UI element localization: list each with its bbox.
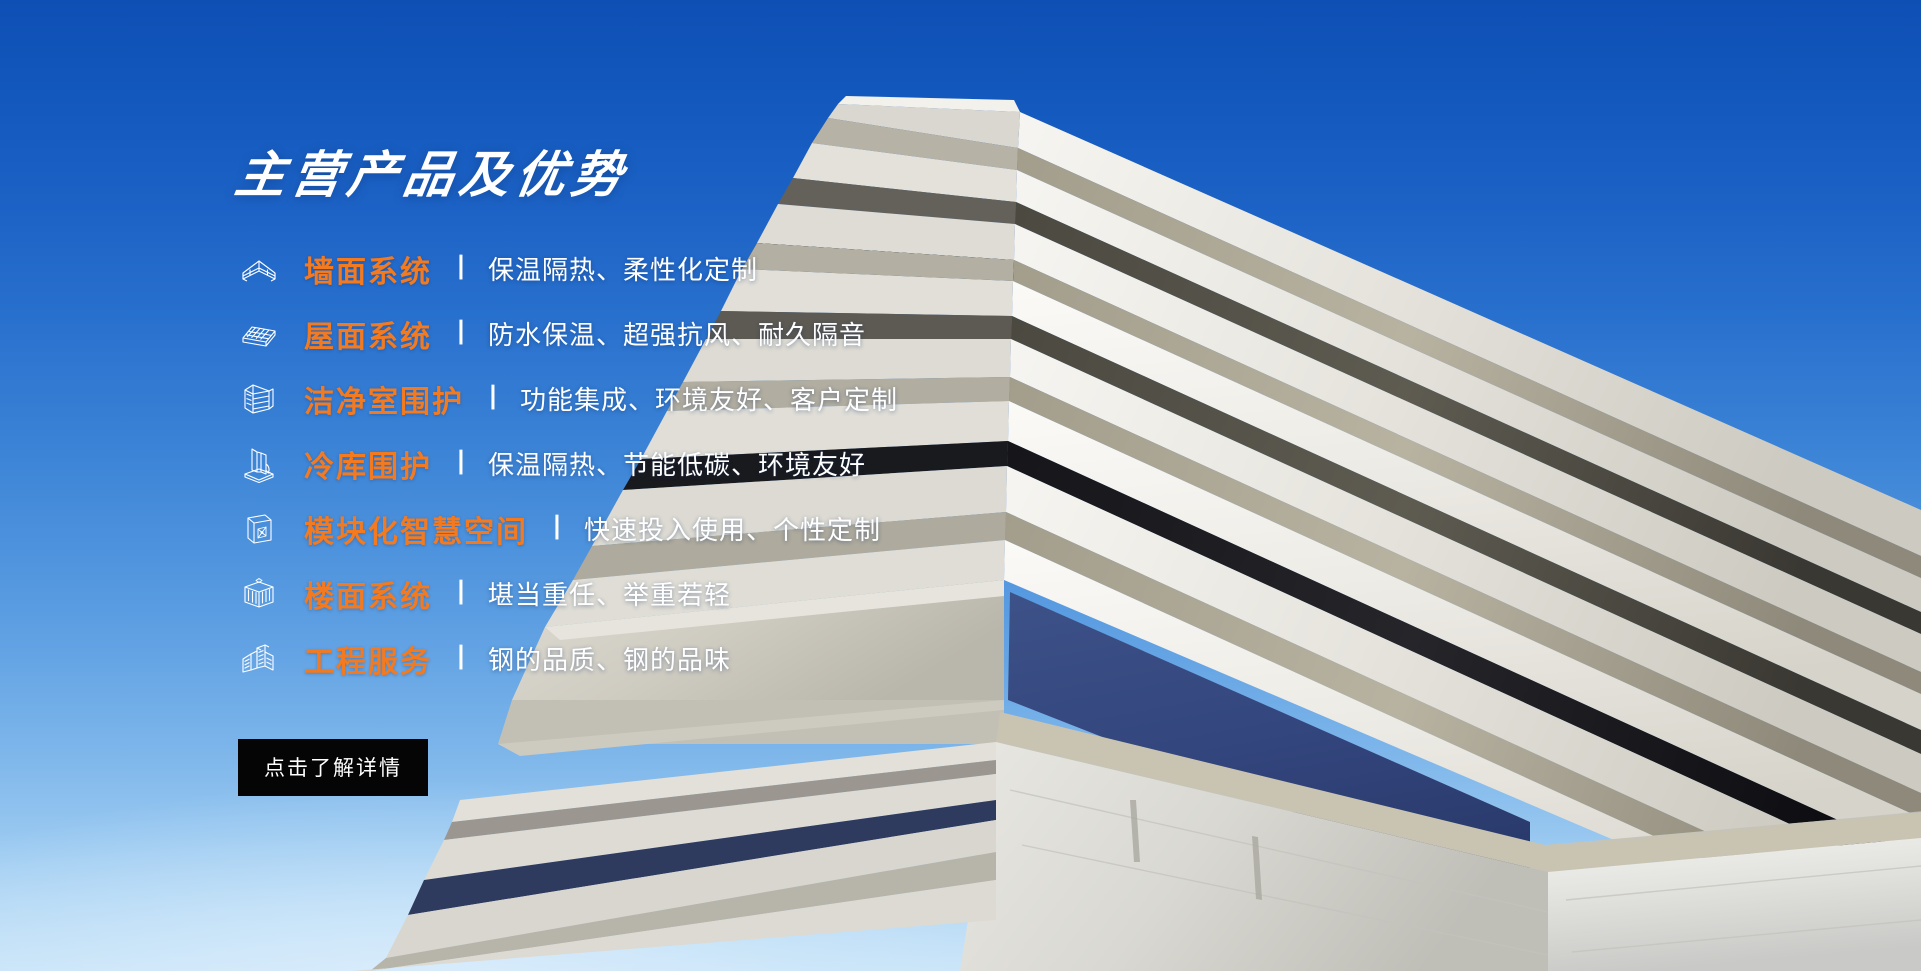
- product-name: 模块化智慧空间: [304, 507, 528, 551]
- product-desc: 防水保温、超强抗风、耐久隔音: [488, 315, 866, 352]
- product-list: 墙面系统 丨 保温隔热、柔性化定制 屋面系统 丨 防水保温、超强抗: [236, 236, 1096, 691]
- product-row-cleanroom[interactable]: 洁净室围护 丨 功能集成、环境友好、客户定制: [236, 366, 1096, 431]
- product-row-cold-storage[interactable]: 冷库围护 丨 保温隔热、节能低碳、环境友好: [236, 431, 1096, 496]
- learn-more-button[interactable]: 点击了解详情: [238, 739, 428, 796]
- modular-cube-icon: [236, 507, 282, 551]
- roof-panel-icon: [236, 312, 282, 356]
- separator: 丨: [448, 255, 474, 281]
- product-row-modular-space[interactable]: 模块化智慧空间 丨 快速投入使用、个性定制: [236, 496, 1096, 561]
- cleanroom-building-icon: [236, 377, 282, 421]
- product-name: 洁净室围护: [304, 377, 464, 421]
- page-title: 主营产品及优势: [232, 150, 1100, 200]
- product-name: 墙面系统: [304, 247, 432, 291]
- hero-banner: 主营产品及优势 墙面系统 丨 保温隔热、柔性化定制: [0, 0, 1921, 971]
- separator: 丨: [448, 450, 474, 476]
- separator: 丨: [448, 645, 474, 671]
- engineering-buildings-icon: [236, 637, 282, 681]
- product-desc: 钢的品质、钢的品味: [488, 640, 731, 677]
- product-name: 工程服务: [304, 637, 432, 681]
- separator: 丨: [480, 385, 506, 411]
- product-desc: 堪当重任、举重若轻: [488, 575, 731, 612]
- product-desc: 保温隔热、节能低碳、环境友好: [488, 445, 866, 482]
- product-desc: 快速投入使用、个性定制: [584, 510, 881, 547]
- separator: 丨: [544, 515, 570, 541]
- separator: 丨: [448, 580, 474, 606]
- separator: 丨: [448, 320, 474, 346]
- product-name: 冷库围护: [304, 442, 432, 486]
- product-desc: 保温隔热、柔性化定制: [488, 250, 758, 287]
- product-name: 屋面系统: [304, 312, 432, 356]
- floor-deck-icon: [236, 572, 282, 616]
- product-row-wall-system[interactable]: 墙面系统 丨 保温隔热、柔性化定制: [236, 236, 1096, 301]
- product-row-floor-system[interactable]: 楼面系统 丨 堪当重任、举重若轻: [236, 561, 1096, 626]
- product-row-engineering-service[interactable]: 工程服务 丨 钢的品质、钢的品味: [236, 626, 1096, 691]
- product-row-roof-system[interactable]: 屋面系统 丨 防水保温、超强抗风、耐久隔音: [236, 301, 1096, 366]
- hero-content-panel: 主营产品及优势 墙面系统 丨 保温隔热、柔性化定制: [236, 150, 1096, 796]
- product-desc: 功能集成、环境友好、客户定制: [520, 380, 898, 417]
- cold-storage-icon: [236, 442, 282, 486]
- wall-panel-icon: [236, 247, 282, 291]
- product-name: 楼面系统: [304, 572, 432, 616]
